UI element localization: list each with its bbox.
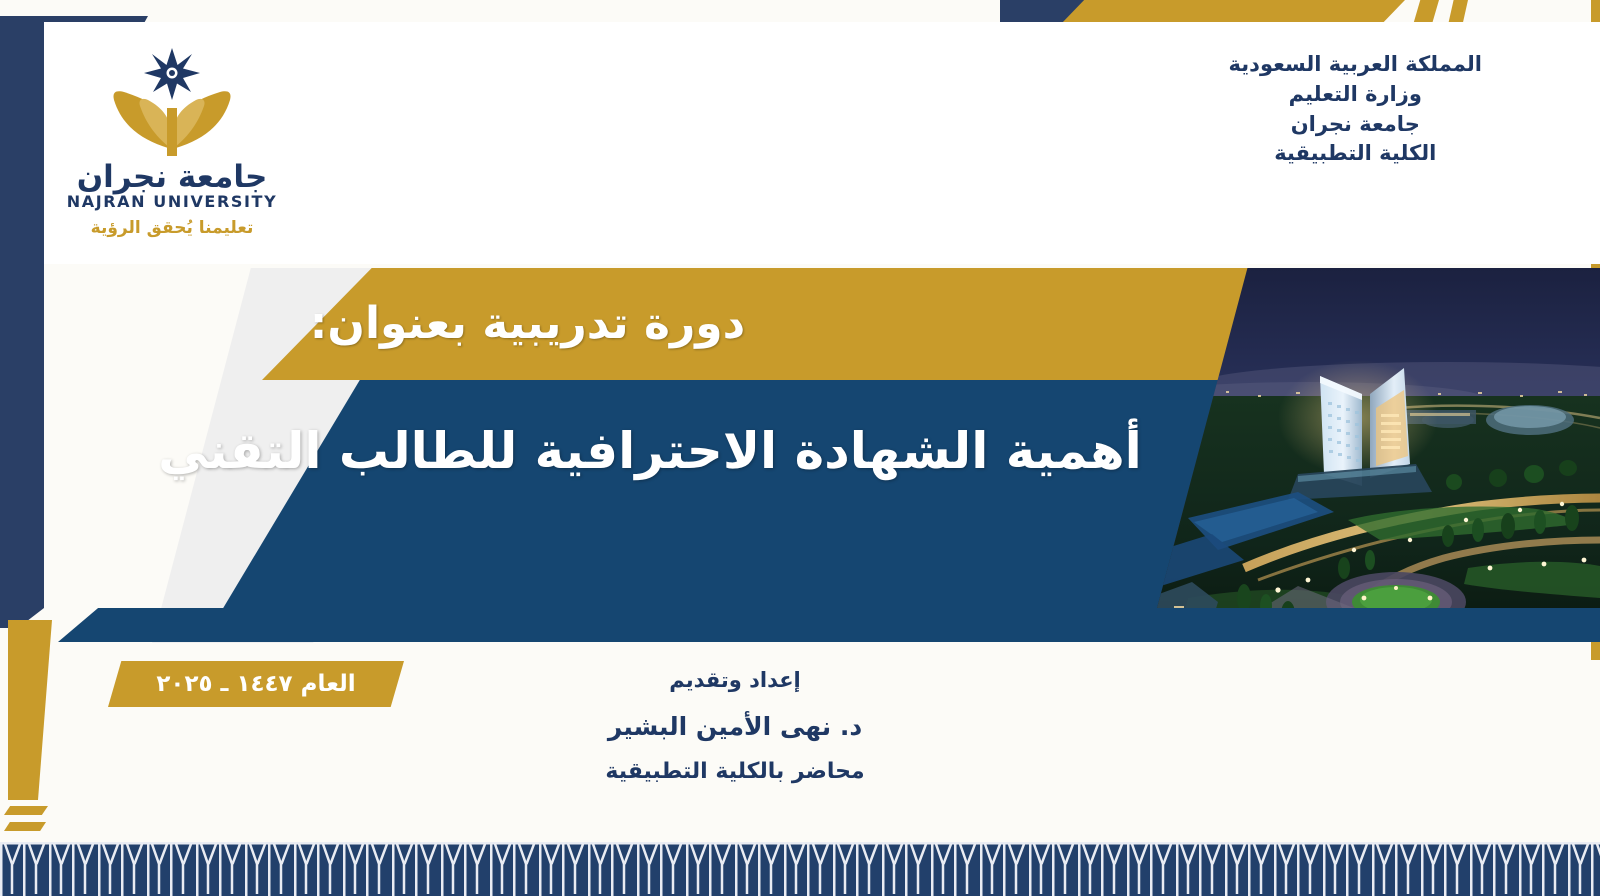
presenter-title: محاضر بالكلية التطبيقية [0,761,1470,783]
banner-navy-foot [58,608,1600,642]
presenter-block: إعداد وتقديم د. نهى الأمين البشير محاضر … [0,670,1470,783]
header-line-college: الكلية التطبيقية [1229,139,1482,169]
university-logo: جامعة نجران NAJRAN UNIVERSITY تعليمنا يُ… [62,48,282,228]
header-line-country: المملكة العربية السعودية [1229,50,1482,80]
presenter-name: د. نهى الأمين البشير [0,714,1470,739]
logo-name-arabic: جامعة نجران [62,162,282,193]
presenter-role: إعداد وتقديم [0,670,1470,691]
left-gold-dash-2 [4,822,46,831]
institution-header: المملكة العربية السعودية وزارة التعليم ج… [1229,50,1482,169]
logo-name-english: NAJRAN UNIVERSITY [62,193,282,211]
header-line-ministry: وزارة التعليم [1229,80,1482,110]
header-line-university: جامعة نجران [1229,110,1482,140]
course-subtitle: دورة تدريبية بعنوان: [0,299,1055,350]
star-and-open-book-icon [62,48,282,160]
left-gold-dash-1 [4,806,48,815]
presentation-slide: جامعة نجران NAJRAN UNIVERSITY تعليمنا يُ… [0,0,1600,896]
course-title: أهمية الشهادة الاحترافية للطالب التقني [120,418,1180,485]
logo-tagline: تعليمنا يُحقق الرؤية [62,220,282,237]
bottom-chevron-border [0,838,1600,896]
